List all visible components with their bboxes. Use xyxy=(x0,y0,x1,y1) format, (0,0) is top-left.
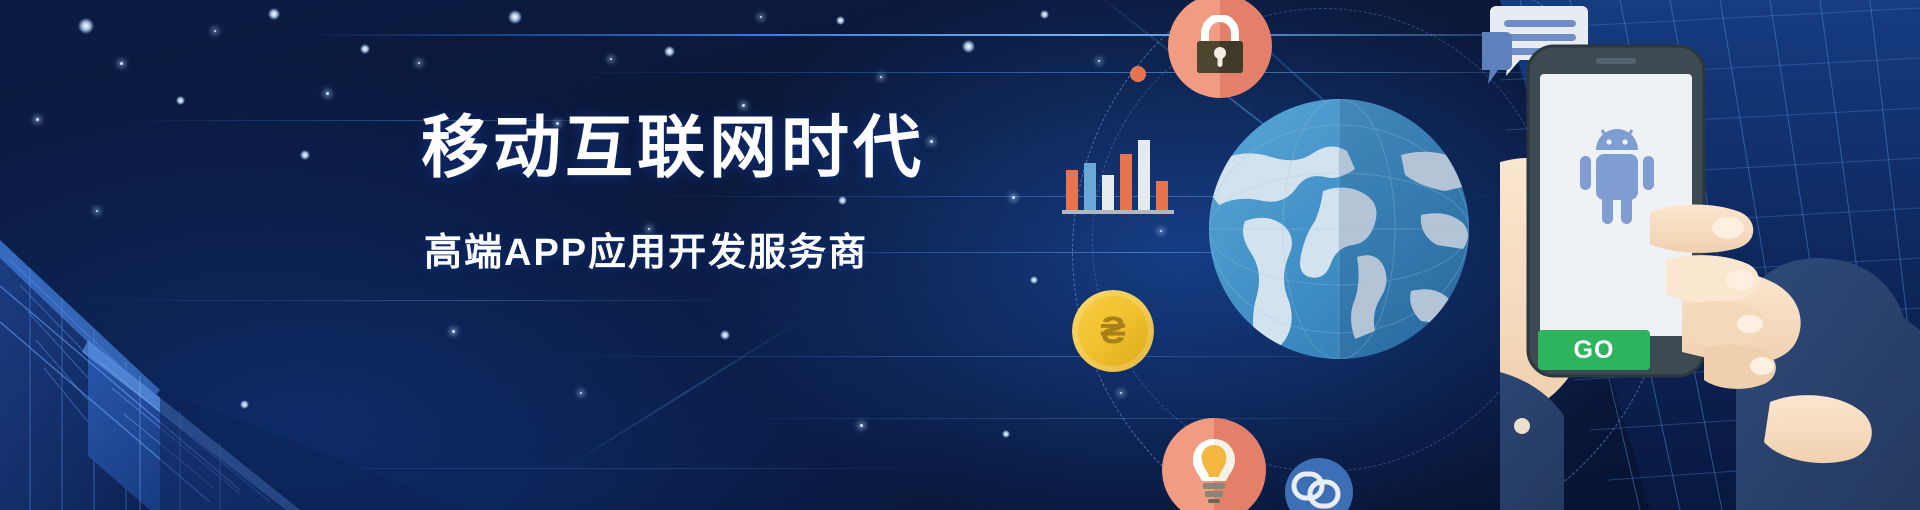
building-wireframe-left xyxy=(0,90,470,510)
go-button[interactable]: GO xyxy=(1538,330,1650,370)
lock-icon xyxy=(1168,0,1272,98)
lightbulb-icon xyxy=(1162,418,1266,510)
coin-icon: ₴ xyxy=(1072,290,1154,372)
hero-banner: ₴ 移动互联网时代 高端APP应用开发服务商 xyxy=(0,0,1920,510)
phone-in-hands-illustration: GO xyxy=(1500,30,1920,510)
page-title: 移动互联网时代 xyxy=(421,114,925,182)
globe-icon xyxy=(1205,95,1473,363)
bar-chart-icon xyxy=(1062,132,1182,214)
link-icon xyxy=(1280,452,1358,510)
page-subtitle: 高端APP应用开发服务商 xyxy=(424,234,868,272)
